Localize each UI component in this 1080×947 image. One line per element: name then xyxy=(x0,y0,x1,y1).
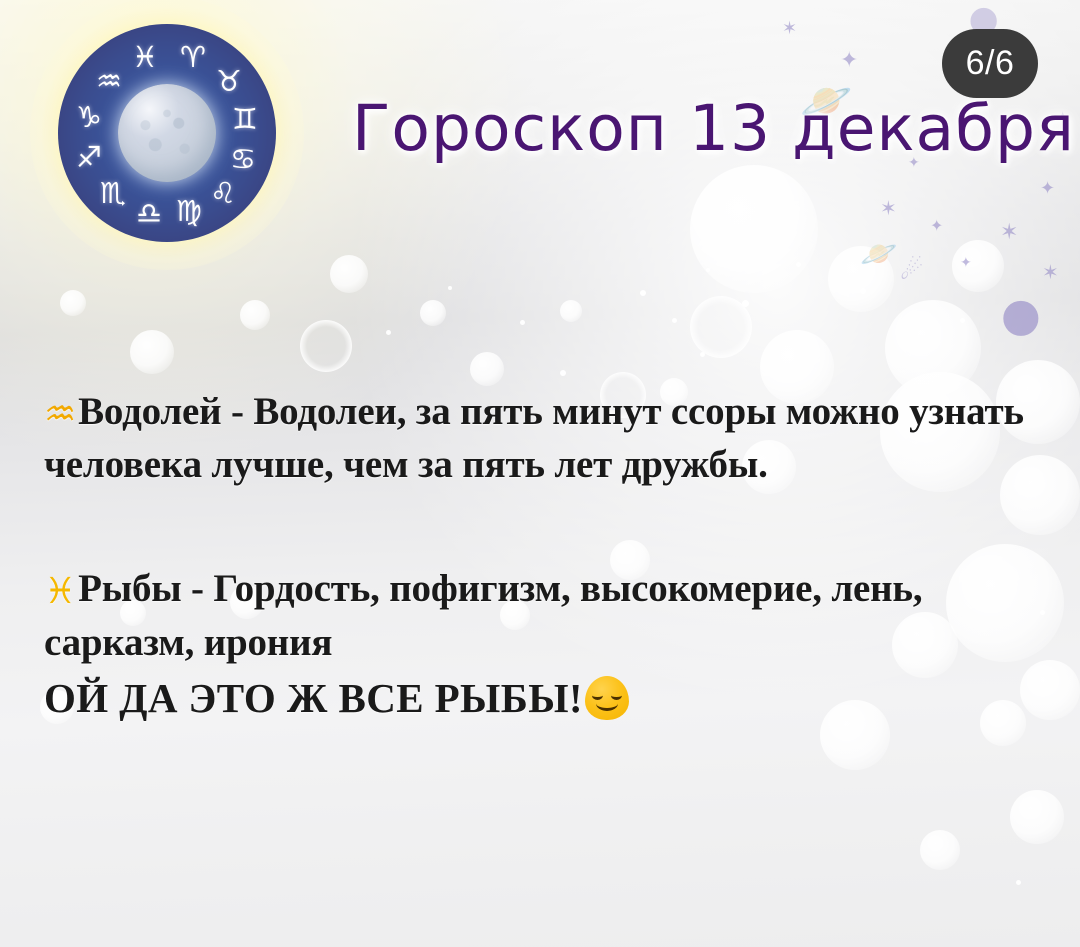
smiling-face-icon xyxy=(585,676,629,720)
zodiac-wheel: ♈ ♉ ♊ ♋ ♌ ♍ ♎ ♏ ♐ ♑ ♒ ♓ xyxy=(48,14,286,252)
pisces-icon: ♓ xyxy=(44,571,76,612)
zodiac-glyph-aquarius: ♒ xyxy=(92,64,126,98)
entry-paragraph: ♒Водолей - Водолеи, за пять минут ссоры … xyxy=(44,386,1044,491)
zodiac-glyph-aries: ♈ xyxy=(176,40,210,74)
horoscope-entry-pisces: ♓Рыбы - Гордость, пофигизм, высокомерие,… xyxy=(44,563,1044,725)
zodiac-glyph-leo: ♌ xyxy=(206,176,240,210)
entry-paragraph: ♓Рыбы - Гордость, пофигизм, высокомерие,… xyxy=(44,563,1044,668)
zodiac-glyph-taurus: ♉ xyxy=(212,64,246,98)
entry-body-text: Рыбы - Гордость, пофигизм, высокомерие, … xyxy=(44,567,922,663)
zodiac-glyph-capricorn: ♑ xyxy=(72,100,106,134)
moon-icon xyxy=(118,84,216,182)
comet-doodle: ☄ xyxy=(900,258,923,284)
zodiac-glyph-gemini: ♊ xyxy=(228,102,262,136)
star-doodle: ✶ xyxy=(1042,262,1059,282)
page-counter-badge: 6/6 xyxy=(942,29,1038,98)
page-title: Гороскоп 13 декабря xyxy=(352,92,1075,165)
zodiac-ring: ♈ ♉ ♊ ♋ ♌ ♍ ♎ ♏ ♐ ♑ ♒ ♓ xyxy=(58,24,276,242)
entry-body-text: Водолей - Водолеи, за пять минут ссоры м… xyxy=(44,390,1024,486)
poster-header: ♈ ♉ ♊ ♋ ♌ ♍ ♎ ♏ ♐ ♑ ♒ ♓ Гороскоп 13 дека… xyxy=(0,0,1080,250)
zodiac-glyph-cancer: ♋ xyxy=(226,142,260,176)
aquarius-icon: ♒ xyxy=(44,394,76,435)
zodiac-glyph-scorpio: ♏ xyxy=(96,176,130,210)
planet-doodle: 🌑 xyxy=(1000,300,1042,340)
star-doodle: ✦ xyxy=(960,256,972,270)
horoscope-poster: 🪐 🪐 🌑 🌑 ✦ ✶ ✦ ✶ ✦ ✶ ✦ ✶ ✦ ✦ ☄ ♈ ♉ ♊ ♋ ♌ … xyxy=(0,0,1080,947)
zodiac-glyph-pisces: ♓ xyxy=(128,40,162,74)
horoscope-content: ♒Водолей - Водолеи, за пять минут ссоры … xyxy=(44,386,1044,726)
horoscope-entry-aquarius: ♒Водолей - Водолеи, за пять минут ссоры … xyxy=(44,386,1044,491)
entry-shout-line: ОЙ ДА ЭТО Ж ВСЕ РЫБЫ! xyxy=(44,671,1044,726)
entry-shout-text: ОЙ ДА ЭТО Ж ВСЕ РЫБЫ! xyxy=(44,675,583,721)
zodiac-glyph-sagittarius: ♐ xyxy=(72,140,106,174)
zodiac-glyph-virgo: ♍ xyxy=(172,194,206,228)
zodiac-glyph-libra: ♎ xyxy=(132,196,166,230)
